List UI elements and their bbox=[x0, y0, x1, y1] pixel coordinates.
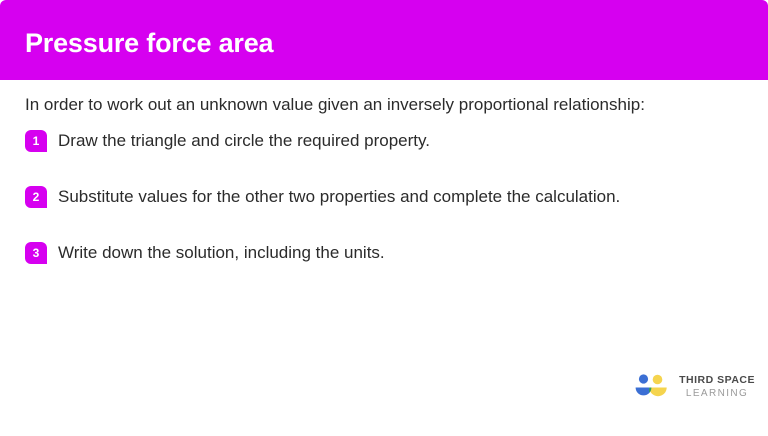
brand-logo: THIRD SPACE LEARNING bbox=[632, 372, 755, 402]
step-number-badge: 3 bbox=[25, 242, 47, 264]
logo-line-2: LEARNING bbox=[679, 389, 755, 399]
page-title: Pressure force area bbox=[25, 27, 273, 59]
content-area: In order to work out an unknown value gi… bbox=[0, 80, 768, 436]
slide-card: Pressure force area In order to work out… bbox=[0, 0, 768, 436]
list-item: 3 Write down the solution, including the… bbox=[25, 242, 755, 264]
logo-line-1: THIRD SPACE bbox=[679, 375, 755, 386]
step-number-badge: 1 bbox=[25, 130, 47, 152]
step-text: Write down the solution, including the u… bbox=[58, 242, 755, 264]
third-space-learning-mark-icon bbox=[632, 372, 670, 402]
steps-list: 1 Draw the triangle and circle the requi… bbox=[25, 130, 755, 264]
step-text: Draw the triangle and circle the require… bbox=[58, 130, 755, 152]
logo-wordmark: THIRD SPACE LEARNING bbox=[679, 375, 755, 399]
intro-text: In order to work out an unknown value gi… bbox=[25, 93, 645, 117]
step-text: Substitute values for the other two prop… bbox=[58, 186, 755, 208]
step-number-badge: 2 bbox=[25, 186, 47, 208]
list-item: 1 Draw the triangle and circle the requi… bbox=[25, 130, 755, 152]
list-item: 2 Substitute values for the other two pr… bbox=[25, 186, 755, 208]
header-band: Pressure force area bbox=[0, 0, 768, 80]
